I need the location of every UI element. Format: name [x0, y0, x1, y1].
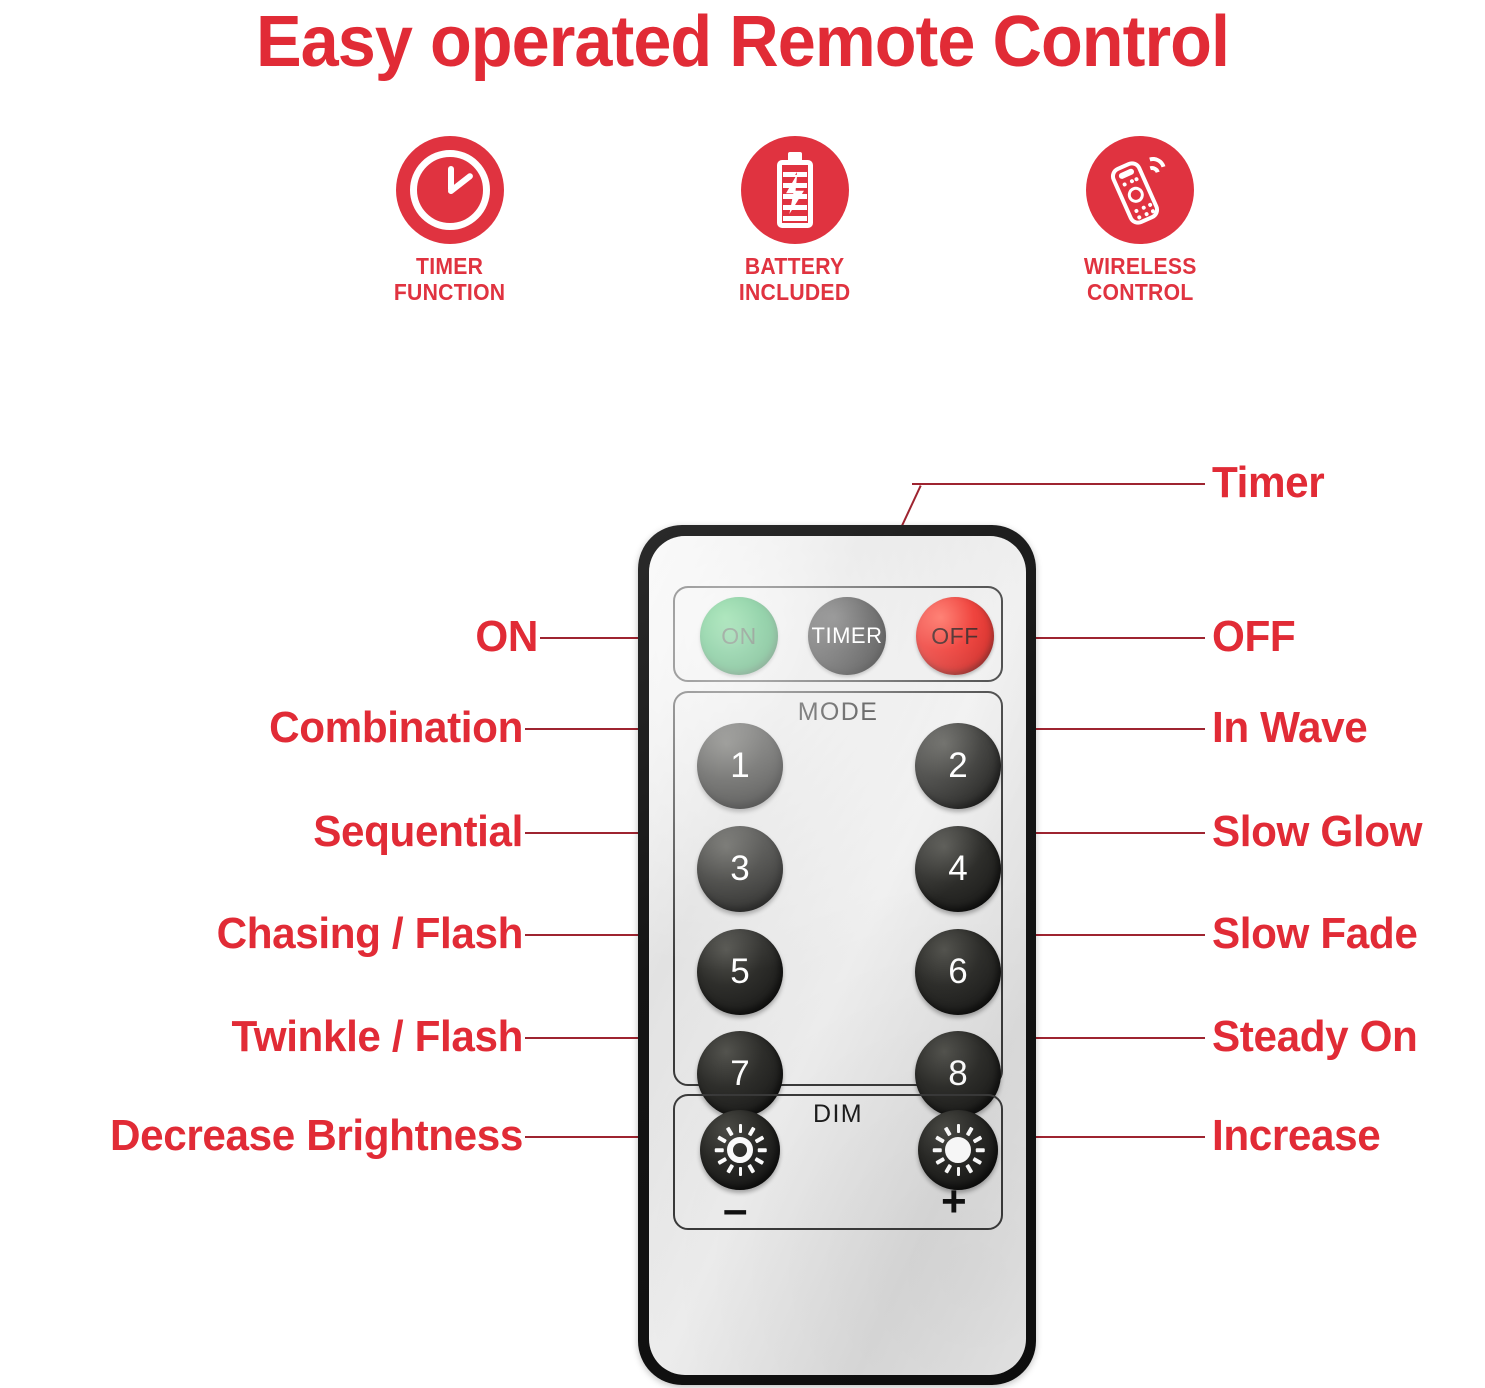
sun-hollow-icon	[714, 1124, 766, 1176]
lead-line-timer	[912, 483, 1205, 485]
remote-icon-dot	[1134, 208, 1139, 213]
remote-signal-icon	[1086, 136, 1194, 244]
callout-timer: Timer	[1212, 459, 1324, 507]
callout-increase: Increase	[1212, 1112, 1380, 1160]
mode-button-label: 6	[948, 952, 967, 992]
off-button-label: OFF	[931, 623, 979, 650]
sun-filled-icon	[932, 1124, 984, 1176]
feature-timer-function: TIMER FUNCTION	[300, 136, 600, 305]
feature-label-line1: BATTERY	[739, 253, 851, 279]
remote-control-device: ON TIMER OFF MODE 1 2 3	[638, 525, 1036, 1385]
mode-button-label: 2	[948, 746, 967, 786]
mode-button-5[interactable]: 5	[697, 929, 783, 1015]
feature-label: BATTERY INCLUDED	[739, 253, 851, 305]
remote-icon-dot	[1144, 211, 1149, 216]
callout-chasing-flash: Chasing / Flash	[21, 910, 523, 958]
product-infographic: Easy operated Remote Control TIMER FUNCT…	[0, 0, 1485, 1388]
mode-button-panel: MODE 1 2 3 4 5 6	[673, 691, 1003, 1086]
page-title: Easy operated Remote Control	[37, 2, 1448, 82]
mode-button-label: 3	[730, 849, 749, 889]
dim-minus-sign: –	[723, 1188, 747, 1232]
battery-bar	[783, 216, 807, 221]
remote-icon-dot	[1137, 215, 1142, 220]
mode-button-4[interactable]: 4	[915, 826, 1001, 912]
feature-label: TIMER FUNCTION	[394, 253, 506, 305]
callout-steady-on: Steady On	[1212, 1013, 1417, 1061]
power-button-panel: ON TIMER OFF	[673, 586, 1003, 682]
dim-button-panel: DIM	[673, 1094, 1003, 1230]
callout-slow-fade: Slow Fade	[1212, 910, 1417, 958]
callout-off: OFF	[1212, 613, 1295, 661]
mode-button-3[interactable]: 3	[697, 826, 783, 912]
mode-button-label: 4	[948, 849, 967, 889]
callout-decrease-brightness: Decrease Brightness	[21, 1112, 523, 1160]
mode-button-6[interactable]: 6	[915, 929, 1001, 1015]
feature-wireless-control: WIRELESS CONTROL	[990, 136, 1290, 305]
mode-button-2[interactable]: 2	[915, 723, 1001, 809]
mode-button-1[interactable]: 1	[697, 723, 783, 809]
remote-icon-dot	[1150, 209, 1155, 214]
feature-label-line1: WIRELESS	[1084, 253, 1197, 279]
on-button[interactable]: ON	[700, 597, 778, 675]
timer-button-label: TIMER	[812, 623, 883, 649]
feature-label-line1: TIMER	[394, 253, 506, 279]
callout-twinkle-flash: Twinkle / Flash	[21, 1013, 523, 1061]
feature-label-line2: INCLUDED	[739, 279, 851, 305]
remote-icon-dot	[1122, 182, 1127, 187]
remote-icon-dot	[1141, 205, 1146, 210]
remote-icon-dot	[1147, 202, 1152, 207]
callout-on: ON	[22, 613, 538, 661]
mode-button-label: 8	[948, 1054, 967, 1094]
clock-icon	[396, 136, 504, 244]
battery-cap	[788, 152, 802, 160]
battery-icon	[741, 136, 849, 244]
remote-faceplate: ON TIMER OFF MODE 1 2 3	[649, 536, 1026, 1375]
mode-button-label: 7	[730, 1054, 749, 1094]
mode-button-label: 1	[730, 746, 749, 786]
feature-label-line2: CONTROL	[1084, 279, 1197, 305]
remote-icon-dpad	[1125, 184, 1146, 205]
callout-in-wave: In Wave	[1212, 704, 1367, 752]
dim-plus-sign: +	[941, 1180, 967, 1224]
remote-icon-dot	[1134, 177, 1139, 182]
off-button[interactable]: OFF	[916, 597, 994, 675]
callout-sequential: Sequential	[21, 808, 523, 856]
dim-down-button[interactable]	[700, 1110, 780, 1190]
callout-combination: Combination	[21, 704, 523, 752]
timer-button[interactable]: TIMER	[808, 597, 886, 675]
feature-badge-row: TIMER FUNCTION BATTERY INCLUDED	[300, 136, 1290, 321]
feature-battery-included: BATTERY INCLUDED	[645, 136, 945, 305]
feature-label: WIRELESS CONTROL	[1084, 253, 1197, 305]
mode-button-label: 5	[730, 952, 749, 992]
feature-label-line2: FUNCTION	[394, 279, 506, 305]
callout-slow-glow: Slow Glow	[1212, 808, 1422, 856]
on-button-label: ON	[721, 623, 757, 650]
